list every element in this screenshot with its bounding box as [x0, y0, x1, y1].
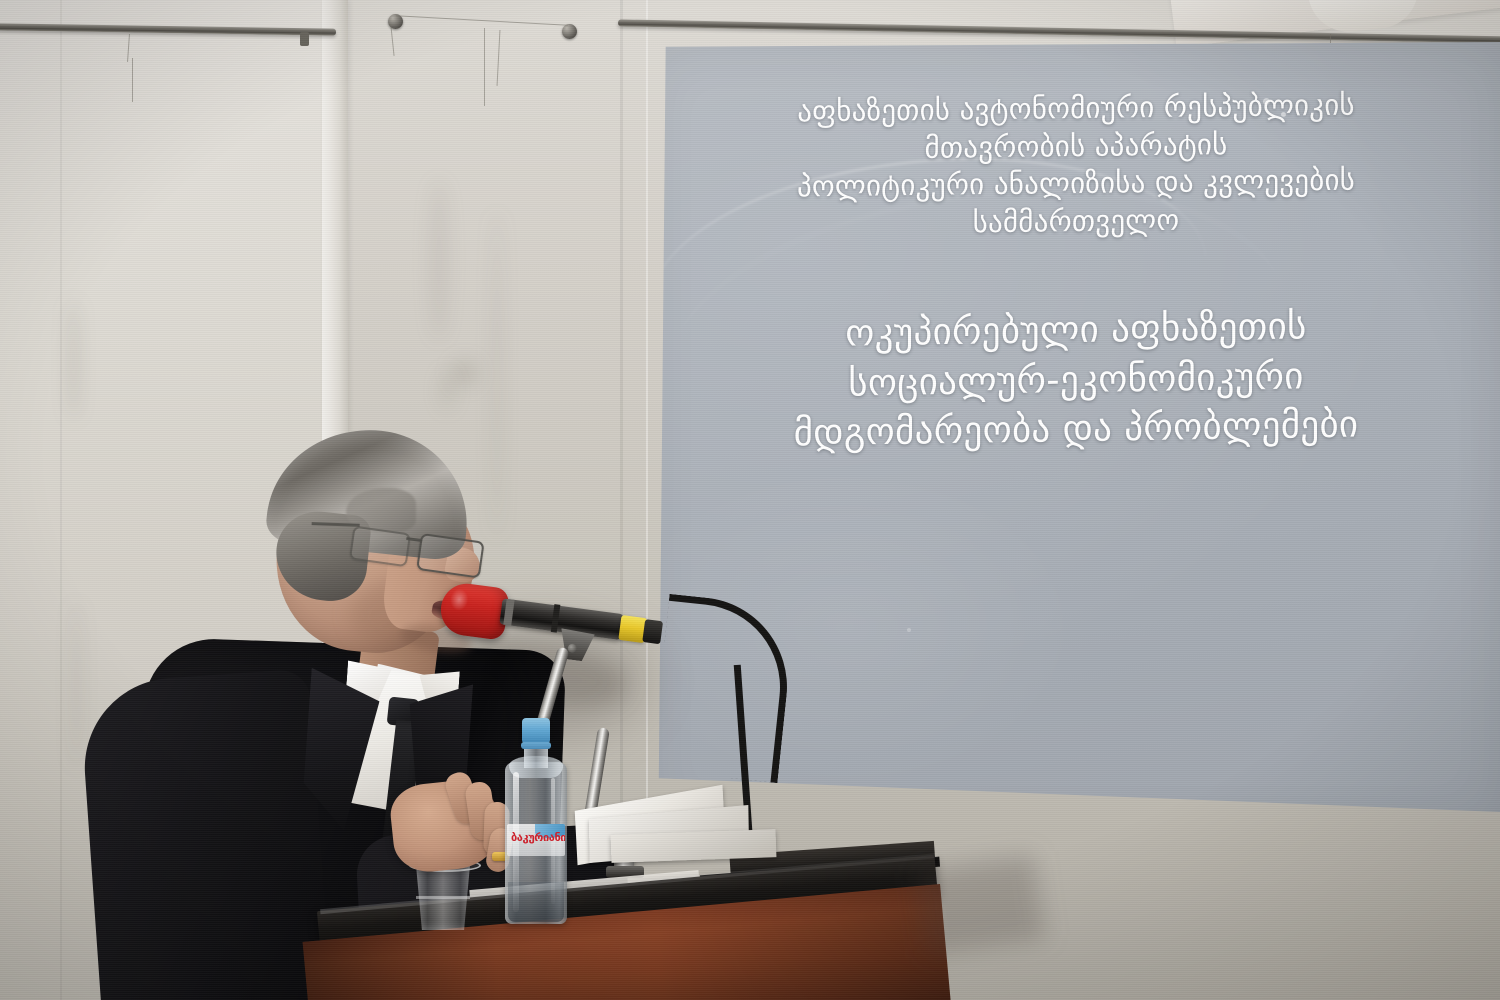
wall-smudge — [452, 360, 478, 386]
papers-in-hand — [575, 788, 765, 866]
podium-cast-shadow — [915, 854, 1046, 956]
eyeglass-lens — [349, 525, 411, 567]
wall-seam — [60, 0, 62, 1000]
photo-scene: აფხაზეთის ავტონომიური რესპუბლიკის მთავრო… — [0, 0, 1500, 1000]
slide-org-line-4: სამმართველო — [689, 198, 1463, 245]
hanging-string — [484, 28, 485, 106]
bottle-cap-ring — [521, 742, 551, 749]
paper-sheet — [611, 829, 777, 863]
suit-shoulder — [79, 668, 331, 1000]
wall-smudge — [430, 180, 448, 340]
slide-title-block: ოკუპირებული აფხაზეთის სოციალურ-ეკონომიკუ… — [689, 299, 1463, 460]
cup-waterline — [416, 896, 470, 899]
eyeglass-lens — [416, 533, 485, 579]
rail-bracket — [300, 32, 309, 46]
bottle-cap — [522, 718, 550, 744]
wall-smudge — [442, 370, 452, 410]
wall-smudge — [70, 300, 77, 420]
bottle-brand-text: ბაკურიანი — [511, 831, 563, 844]
hanging-string — [132, 58, 133, 102]
microphone-body — [499, 598, 623, 640]
microphone-windscreen — [438, 581, 510, 641]
wall-smudge — [74, 600, 79, 770]
bottle-label: ბაკურიანი — [507, 824, 565, 856]
water-bottle: ბაკურიანი — [505, 712, 567, 924]
speaker-hand — [392, 768, 510, 876]
wall-knob — [562, 24, 577, 39]
